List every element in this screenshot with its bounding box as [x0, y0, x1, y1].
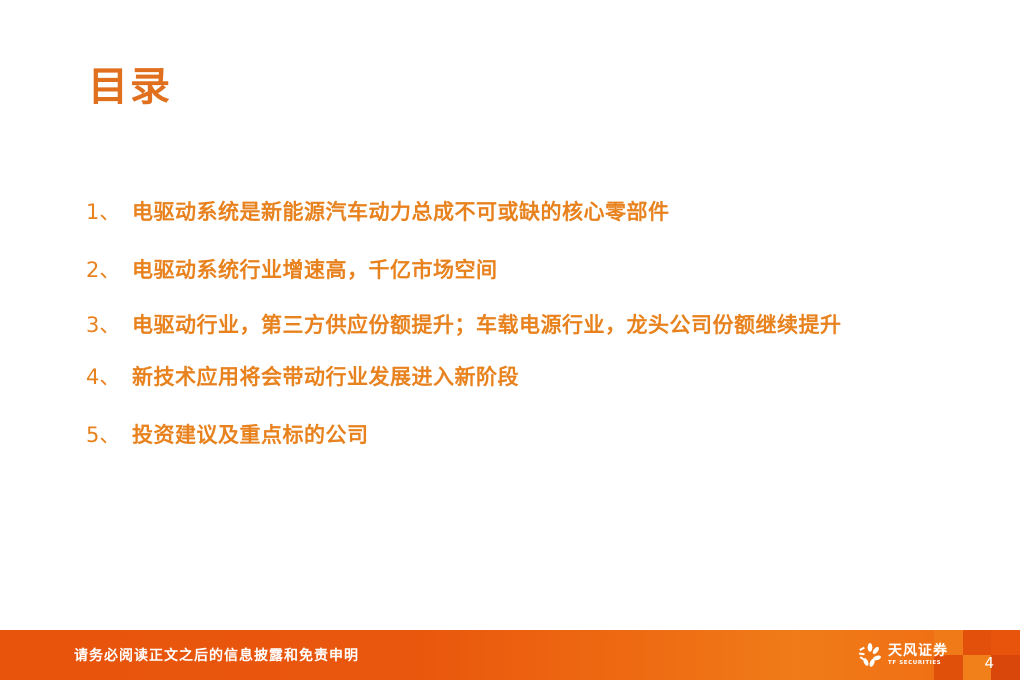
mosaic-tile: [991, 630, 1020, 655]
toc-item-4[interactable]: 4、 新技术应用将会带动行业发展进入新阶段: [86, 361, 946, 394]
toc-item-5-label: 投资建议及重点标的公司: [132, 419, 946, 452]
toc-item-1-number: 1、: [86, 196, 132, 229]
page-title: 目录: [88, 63, 172, 111]
mosaic-tile: [991, 655, 1020, 680]
slide-footer: 请务必阅读正文之后的信息披露和免责申明 天风证券 TF SECURITIES: [0, 630, 1020, 680]
page-number: 4: [984, 656, 994, 671]
toc-item-4-label: 新技术应用将会带动行业发展进入新阶段: [132, 361, 946, 394]
table-of-contents: 1、 电驱动系统是新能源汽车动力总成不可或缺的核心零部件 2、 电驱动系统行业增…: [86, 196, 946, 452]
toc-item-5-number: 5、: [86, 419, 132, 452]
logo-chinese-name: 天风证券: [888, 644, 948, 658]
slide-canvas: 目录 1、 电驱动系统是新能源汽车动力总成不可或缺的核心零部件 2、 电驱动系统…: [0, 0, 1020, 680]
disclaimer-text: 请务必阅读正文之后的信息披露和免责申明: [74, 645, 359, 665]
toc-item-3[interactable]: 3、 电驱动行业，第三方供应份额提升；车载电源行业，龙头公司份额继续提升: [86, 309, 946, 342]
toc-item-4-number: 4、: [86, 361, 132, 394]
toc-item-2[interactable]: 2、 电驱动系统行业增速高，千亿市场空间: [86, 254, 946, 287]
flower-logo-icon: [857, 642, 883, 668]
toc-item-1[interactable]: 1、 电驱动系统是新能源汽车动力总成不可或缺的核心零部件: [86, 196, 946, 229]
logo-wordmark: 天风证券 TF SECURITIES: [888, 644, 948, 667]
toc-item-1-label: 电驱动系统是新能源汽车动力总成不可或缺的核心零部件: [132, 196, 946, 229]
company-logo: 天风证券 TF SECURITIES: [857, 642, 948, 668]
toc-item-3-number: 3、: [86, 309, 132, 342]
toc-item-2-label: 电驱动系统行业增速高，千亿市场空间: [132, 254, 946, 287]
mosaic-tile: [963, 630, 992, 655]
toc-item-2-number: 2、: [86, 254, 132, 287]
logo-english-name: TF SECURITIES: [888, 661, 948, 667]
toc-item-5[interactable]: 5、 投资建议及重点标的公司: [86, 419, 946, 452]
toc-item-3-label: 电驱动行业，第三方供应份额提升；车载电源行业，龙头公司份额继续提升: [132, 309, 946, 342]
